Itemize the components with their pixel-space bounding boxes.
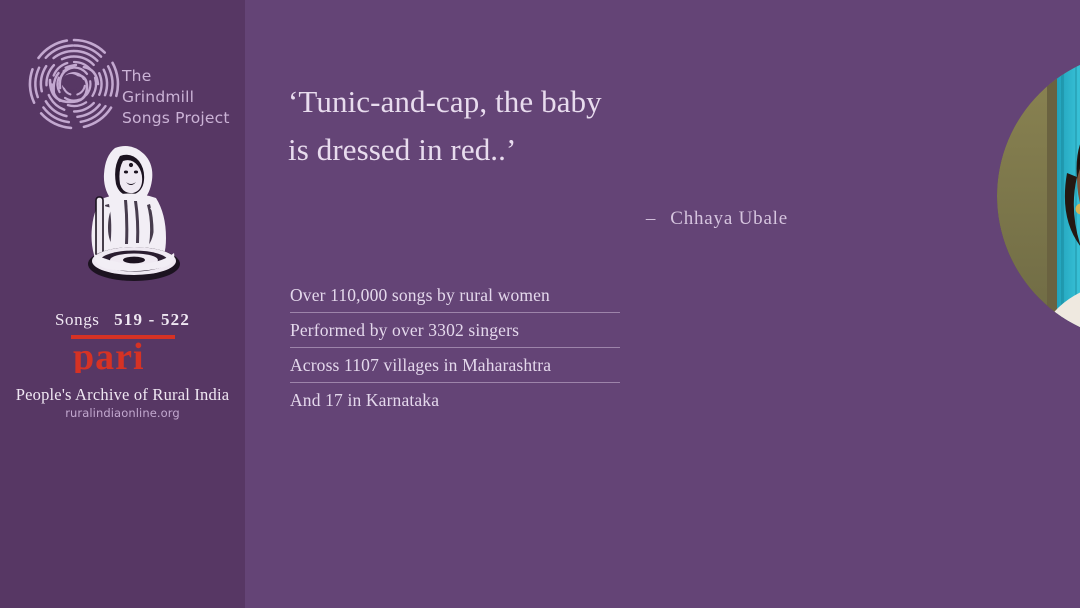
- brand-line-1: The: [122, 66, 240, 87]
- quote-attribution: –Chhaya Ubale: [288, 208, 788, 230]
- list-item: Performed by over 3302 singers: [290, 313, 620, 348]
- singer-portrait-photo: [997, 51, 1080, 341]
- brand-title: The Grindmill Songs Project: [122, 66, 240, 129]
- fingerprint-spiral-icon: [26, 36, 122, 132]
- presentation-slide: The Grindmill Songs Project: [0, 0, 1080, 608]
- organisation-name: People's Archive of Rural India: [0, 385, 245, 405]
- statistics-list: Over 110,000 songs by rural women Perfor…: [290, 278, 620, 417]
- quote-line-1: ‘Tunic-and-cap, the baby: [288, 78, 708, 126]
- song-quote: ‘Tunic-and-cap, the baby is dressed in r…: [288, 78, 708, 174]
- woman-at-grindmill-illustration: [74, 142, 186, 290]
- brand-line-2: Grindmill: [122, 87, 240, 108]
- pari-logo: pari: [0, 331, 245, 373]
- quote-line-2: is dressed in red..’: [288, 126, 708, 174]
- sidebar: The Grindmill Songs Project: [0, 0, 245, 608]
- songs-word: Songs: [55, 310, 100, 329]
- list-item: Over 110,000 songs by rural women: [290, 278, 620, 313]
- main-panel: ‘Tunic-and-cap, the baby is dressed in r…: [245, 0, 1080, 608]
- list-item: Across 1107 villages in Maharashtra: [290, 348, 620, 383]
- attribution-dash: –: [646, 208, 656, 229]
- songs-numbers: 519 - 522: [114, 310, 190, 329]
- website-url[interactable]: ruralindiaonline.org: [0, 406, 245, 420]
- attribution-name: Chhaya Ubale: [670, 208, 788, 229]
- svg-text:pari: pari: [73, 336, 145, 373]
- brand-line-3: Songs Project: [122, 108, 240, 129]
- list-item: And 17 in Karnataka: [290, 383, 620, 417]
- songs-range-label: Songs 519 - 522: [0, 310, 245, 330]
